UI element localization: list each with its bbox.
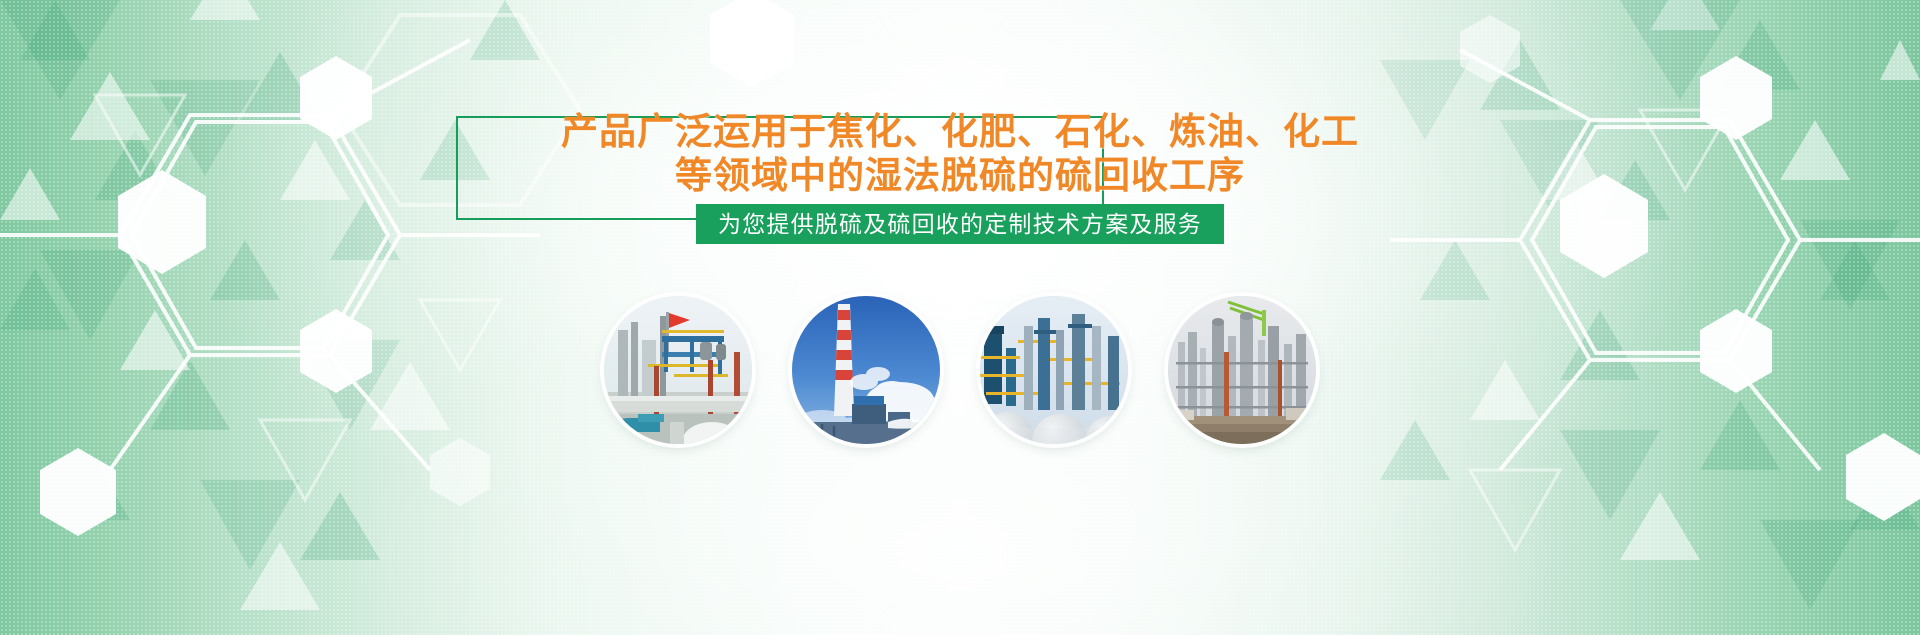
photo-refinery-towers bbox=[1168, 296, 1316, 444]
photo-sulfur-recovery-plant bbox=[604, 296, 752, 444]
headline-line-1: 产品广泛运用于焦化、化肥、石化、炼油、化工 bbox=[0, 112, 1920, 152]
photo-chimney-blue-sky bbox=[792, 296, 940, 444]
promo-banner: 产品广泛运用于焦化、化肥、石化、炼油、化工 等领域中的湿法脱硫的硫回收工序 为您… bbox=[0, 0, 1920, 635]
headline: 产品广泛运用于焦化、化肥、石化、炼油、化工 等领域中的湿法脱硫的硫回收工序 bbox=[0, 112, 1920, 196]
photo-gas-storage-tanks bbox=[980, 296, 1128, 444]
subtitle-text: 为您提供脱硫及硫回收的定制技术方案及服务 bbox=[718, 204, 1202, 244]
headline-line-2: 等领域中的湿法脱硫的硫回收工序 bbox=[0, 156, 1920, 196]
subtitle-bar: 为您提供脱硫及硫回收的定制技术方案及服务 bbox=[696, 204, 1224, 244]
photo-strip bbox=[604, 296, 1316, 444]
